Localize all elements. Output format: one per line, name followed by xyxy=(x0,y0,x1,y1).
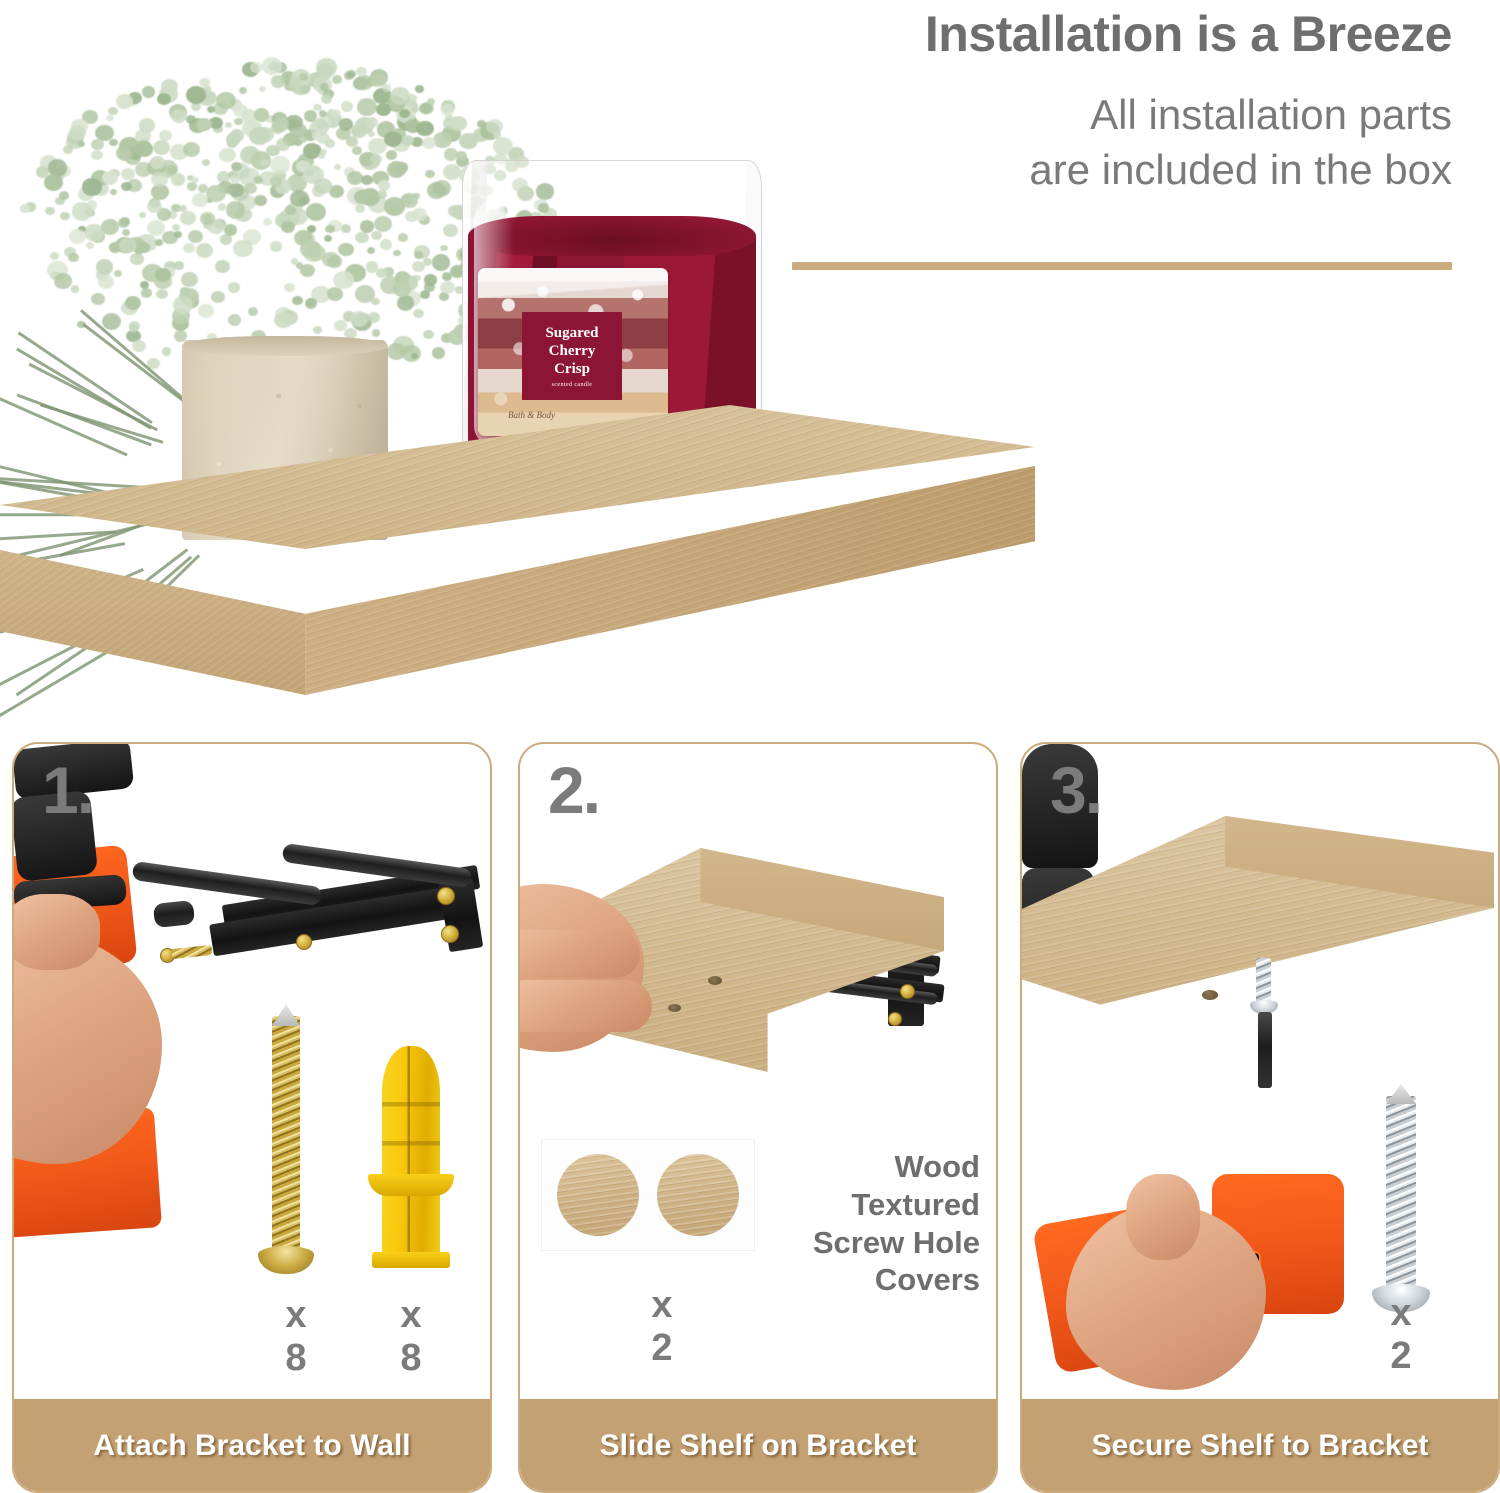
step-2-caption-text: Slide Shelf on Bracket xyxy=(600,1429,917,1463)
qty-number: 2 xyxy=(602,1327,722,1370)
step-3-caption-bar: Secure Shelf to Bracket xyxy=(1020,1399,1500,1493)
step-1-caption-bar: Attach Bracket to Wall xyxy=(12,1399,492,1493)
shelf-screw-hole-1 xyxy=(708,976,722,985)
steps-section: x 8 x 8 1. Attach Bracket to Wall xyxy=(0,742,1500,1493)
step-panel-1: x 8 x 8 1. Attach Bracket to Wall xyxy=(12,742,492,1493)
covers-label-line2: Textured xyxy=(754,1186,980,1224)
step-3-caption-text: Secure Shelf to Bracket xyxy=(1092,1429,1429,1463)
cover-disc-1 xyxy=(557,1154,639,1236)
thumb xyxy=(14,894,100,970)
hero-text-block: Installation is a Breeze All installatio… xyxy=(732,6,1452,197)
step-3-number: 3. xyxy=(1050,752,1101,828)
step-2-illustration: x 2 Wood Textured Screw Hole Covers xyxy=(520,744,996,1399)
bracket-wall-screw-3-icon xyxy=(888,1012,902,1026)
step-1-caption-text: Attach Bracket to Wall xyxy=(93,1429,410,1463)
wall-anchor-yellow-wings xyxy=(368,1174,454,1196)
candle-label-subtitle: scented candle xyxy=(552,382,593,388)
step-3-illustration: BLACK+ DECKER x 2 xyxy=(1022,744,1498,1399)
hero-section: Sugared Cherry Crisp scented candle Bath… xyxy=(0,0,1500,730)
shelf-screw-hole-3 xyxy=(1202,990,1218,1000)
screw-hole-covers-swatch xyxy=(542,1140,754,1250)
step-3-part-1-qty: x 2 xyxy=(1341,1292,1461,1377)
hero-subtitle-line2: are included in the box xyxy=(732,143,1452,198)
step-panel-3: BLACK+ DECKER x 2 3. Secure Shelf to Bra… xyxy=(1020,742,1500,1493)
thumb-3 xyxy=(1126,1174,1200,1260)
finger-2 xyxy=(520,930,640,978)
qty-x-symbol: x xyxy=(236,1294,356,1337)
bracket-screw-2-icon xyxy=(441,925,459,943)
covers-label-line3: Screw Hole xyxy=(754,1224,980,1262)
wood-screw-silver-shaft xyxy=(1386,1096,1416,1296)
qty-x-symbol: x xyxy=(351,1294,471,1337)
bracket-screw-3-icon xyxy=(296,934,312,950)
qty-x-symbol: x xyxy=(602,1284,722,1327)
page-title: Installation is a Breeze xyxy=(732,6,1452,62)
wall-anchor-yellow-collar xyxy=(372,1252,450,1268)
step-2-caption-bar: Slide Shelf on Bracket xyxy=(518,1399,998,1493)
step-panel-2: x 2 Wood Textured Screw Hole Covers 2. S… xyxy=(518,742,998,1493)
candle-label-line2: Cherry xyxy=(549,342,596,360)
covers-label-line4: Covers xyxy=(754,1261,980,1299)
wood-screw-gold-head xyxy=(258,1246,314,1274)
bracket-wall-screw-2-icon xyxy=(900,984,915,999)
hero-subtitle-line1: All installation parts xyxy=(732,88,1452,143)
screw-hole-covers-label: Wood Textured Screw Hole Covers xyxy=(754,1148,980,1299)
shelf-screw-hole-2 xyxy=(668,1004,681,1012)
cover-disc-2 xyxy=(657,1154,739,1236)
wood-screw-gold-shaft xyxy=(272,1016,300,1260)
step-1-part-1-qty: x 8 xyxy=(236,1294,356,1379)
hero-divider xyxy=(792,262,1452,270)
covers-label-line1: Wood xyxy=(754,1148,980,1186)
qty-number: 2 xyxy=(1341,1335,1461,1378)
qty-x-symbol: x xyxy=(1341,1292,1461,1335)
drill-bit xyxy=(1258,1012,1272,1088)
qty-number: 8 xyxy=(236,1337,356,1380)
candle-label-script: Bath & Body xyxy=(508,410,555,420)
candle-label-line1: Sugared xyxy=(545,324,598,342)
step-2-part-1-qty: x 2 xyxy=(602,1284,722,1369)
step-1-part-2-qty: x 8 xyxy=(351,1294,471,1379)
bracket-driving-screw xyxy=(172,945,213,959)
step-1-number: 1. xyxy=(42,752,93,828)
drill-chuck xyxy=(153,900,195,928)
qty-number: 8 xyxy=(351,1337,471,1380)
wood-screw-gold-tip xyxy=(272,1004,300,1026)
wood-screw-silver-tip xyxy=(1386,1084,1416,1104)
floating-shelf-hero xyxy=(0,405,1035,695)
plant-pot-rim xyxy=(182,336,388,356)
candle-label-line3: Crisp xyxy=(554,360,590,378)
wall-anchor-yellow-body xyxy=(382,1046,440,1262)
bracket-rod-left xyxy=(132,861,323,906)
candle-label-plate: Sugared Cherry Crisp scented candle xyxy=(522,312,622,400)
step-1-illustration: x 8 x 8 xyxy=(14,744,490,1399)
bracket-screw-1-icon xyxy=(437,887,455,905)
finger-1 xyxy=(520,980,652,1032)
step-2-number: 2. xyxy=(548,752,599,828)
